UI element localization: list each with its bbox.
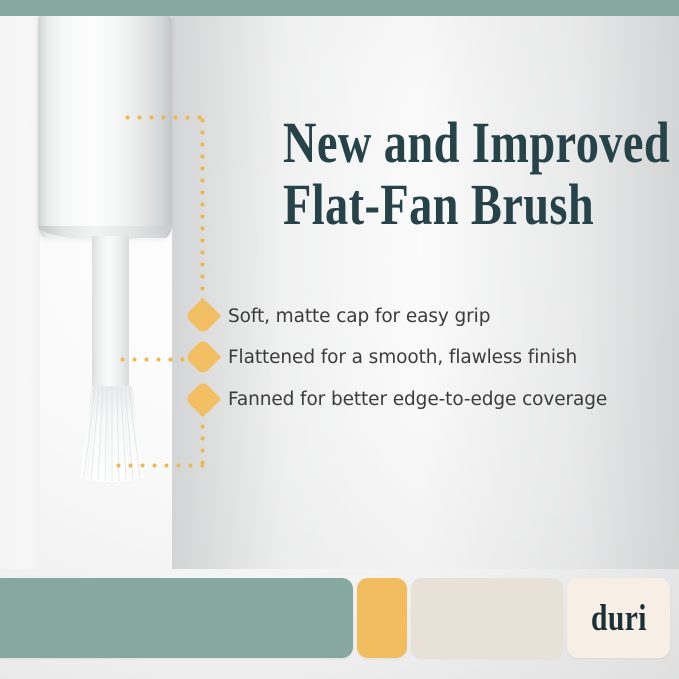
headline-line-1: New and Improved (283, 110, 670, 175)
brush-cap (38, 16, 172, 238)
feature-label-1: Soft, matte cap for easy grip (228, 306, 490, 327)
diamond-bullet-icon (185, 298, 222, 335)
brand-logo-block: duri (567, 578, 670, 658)
feature-label-2: Flattened for a smooth, flawless finish (228, 347, 577, 368)
advertisement-canvas: New and Improved Flat-Fan Brush Soft, ma… (0, 0, 679, 679)
feature-item-2: Flattened for a smooth, flawless finish (228, 344, 577, 370)
feature-item-1: Soft, matte cap for easy grip (228, 303, 490, 329)
diamond-bullet-icon (185, 339, 222, 376)
leader-line-bottom-horizontal (116, 463, 204, 468)
feature-label-3: Fanned for better edge-to-edge coverage (228, 389, 607, 410)
leader-line-top-vertical (200, 118, 205, 302)
leader-line-mid-horizontal (120, 357, 195, 362)
background-band-mid (172, 16, 420, 569)
headline-line-2: Flat-Fan Brush (283, 174, 595, 236)
footer-sage-block (0, 578, 353, 658)
footer-amber-block (357, 578, 407, 658)
leader-line-top-horizontal (125, 115, 205, 120)
background-band-left (0, 16, 40, 569)
feature-item-3: Fanned for better edge-to-edge coverage (228, 386, 607, 412)
brush-bristles (72, 386, 152, 484)
background-band-right (420, 16, 679, 569)
diamond-bullet-icon (185, 381, 222, 418)
leader-line-bottom-vertical (200, 412, 205, 467)
top-accent-strip (0, 0, 679, 16)
footer-cream-block (411, 578, 563, 658)
page-title: New and Improved Flat-Fan Brush (283, 112, 595, 236)
brand-logo-text: duri (591, 600, 647, 637)
brush-stem (92, 236, 129, 388)
